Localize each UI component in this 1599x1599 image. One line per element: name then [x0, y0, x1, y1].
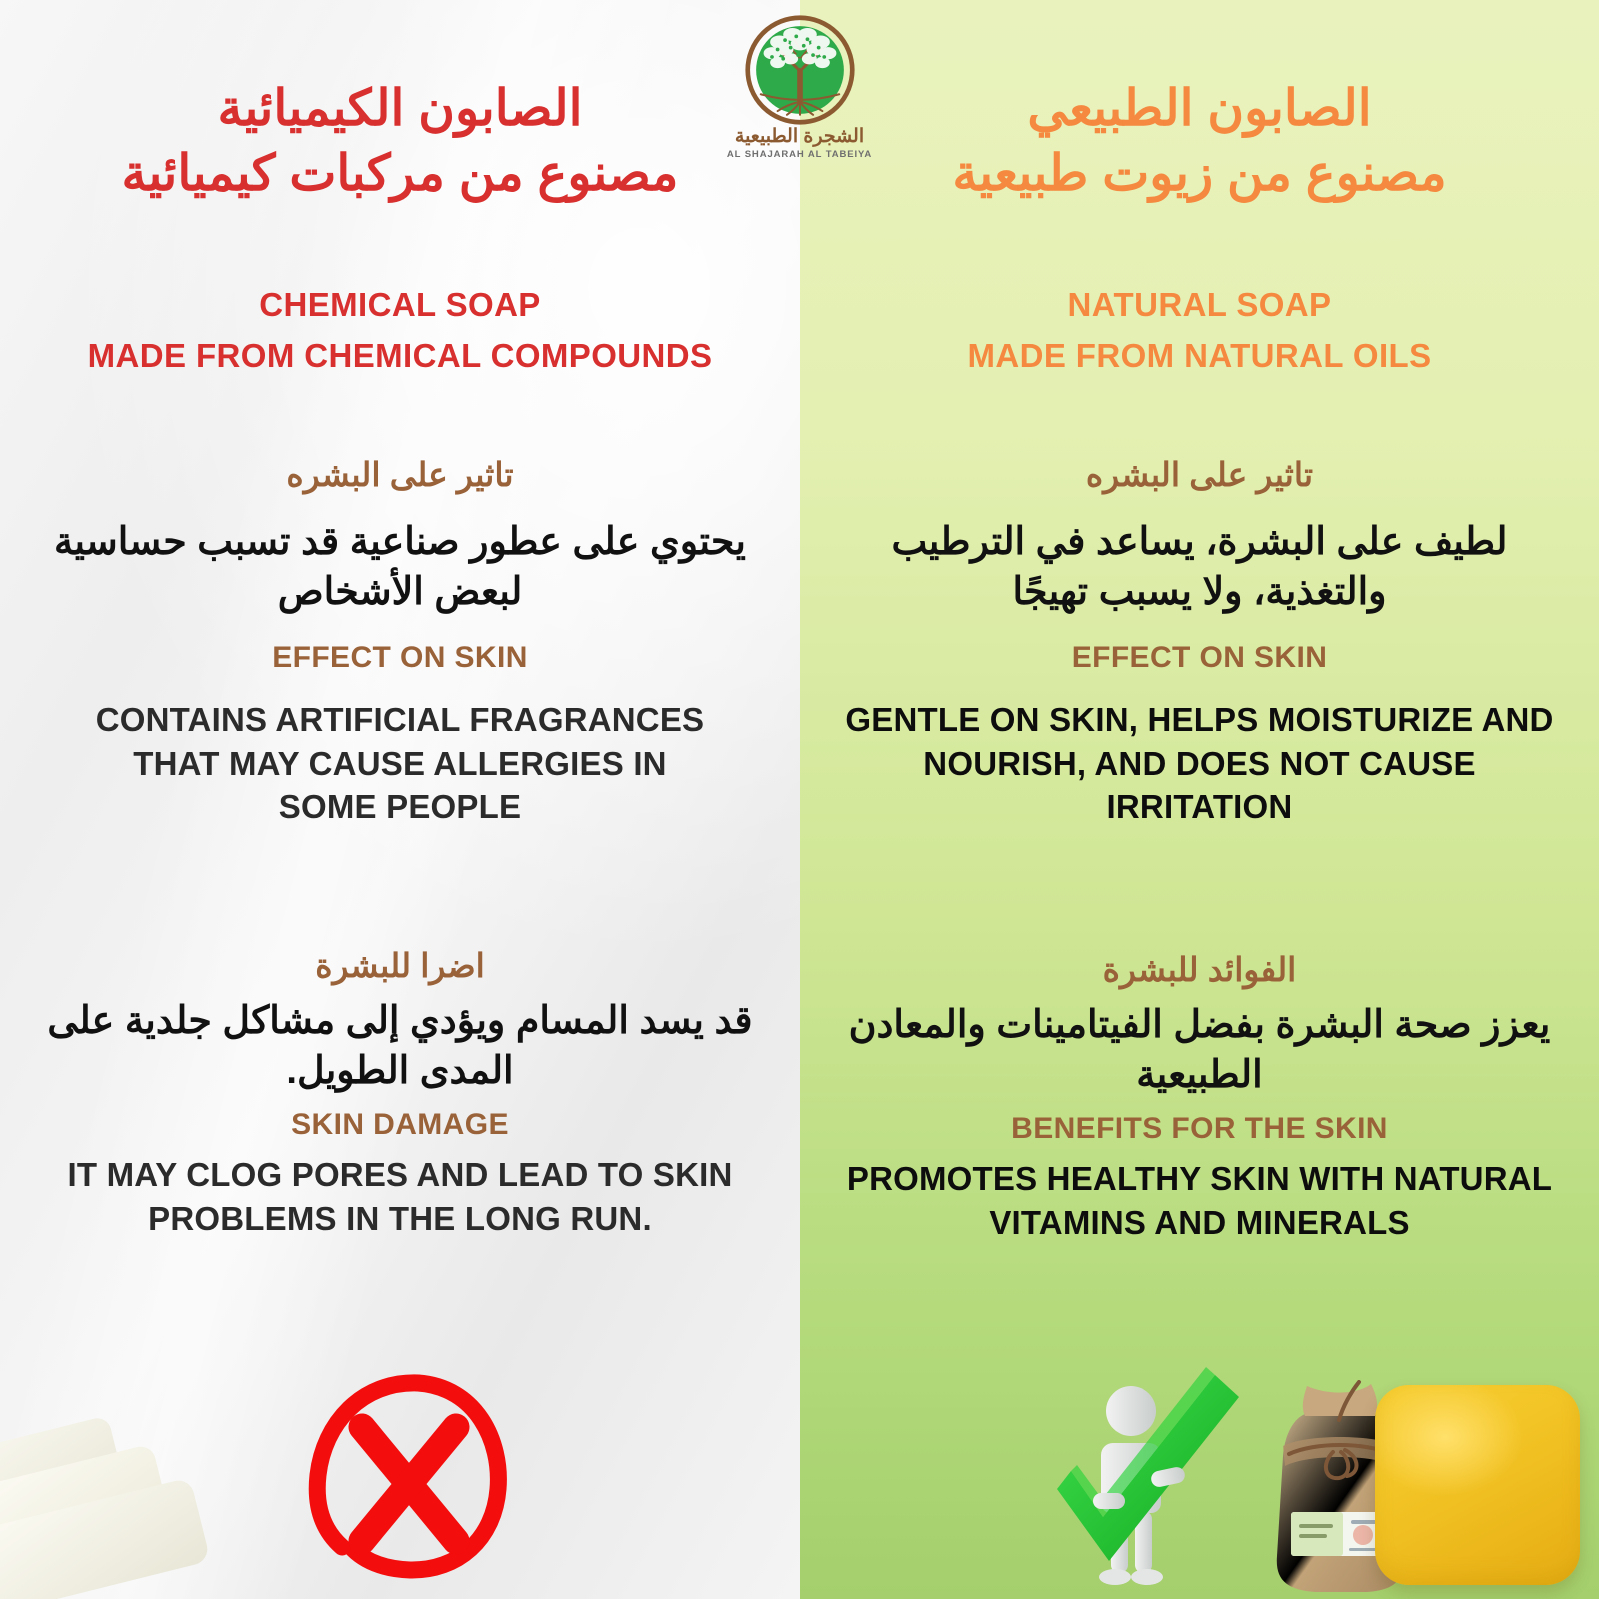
natural-section-effect: تاثير على البشره لطيف على البشرة، يساعد …	[800, 455, 1599, 829]
chemical-effect-heading-english: EFFECT ON SKIN	[26, 640, 774, 676]
natural-title-english-line1: NATURAL SOAP	[826, 285, 1573, 325]
person-holding-check-figure	[1055, 1365, 1255, 1595]
chemical-title-english-line1: CHEMICAL SOAP	[26, 285, 774, 325]
chemical-title-english-line2: MADE FROM CHEMICAL COMPOUNDS	[26, 336, 774, 376]
chemical-soap-panel: الصابون الكيميائية مصنوع من مركبات كيميا…	[0, 0, 800, 1599]
natural-title-block: الصابون الطبيعي مصنوع من زيوت طبيعية	[800, 78, 1599, 204]
natural-title-english-line2: MADE FROM NATURAL OILS	[826, 336, 1573, 376]
chemical-subtitle-block: CHEMICAL SOAP MADE FROM CHEMICAL COMPOUN…	[0, 285, 800, 377]
natural-benefits-heading-arabic: الفوائد للبشرة	[826, 950, 1573, 990]
natural-benefits-body-english: PROMOTES HEALTHY SKIN WITH NATURAL VITAM…	[826, 1157, 1573, 1245]
natural-effect-heading-arabic: تاثير على البشره	[826, 455, 1573, 495]
chemical-effect-body-english: CONTAINS ARTIFICIAL FRAGRANCES THAT MAY …	[26, 698, 774, 830]
comparison-infographic: الصابون الكيميائية مصنوع من مركبات كيميا…	[0, 0, 1599, 1599]
chemical-effect-heading-arabic: تاثير على البشره	[26, 455, 774, 495]
natural-effect-body-english: GENTLE ON SKIN, HELPS MOISTURIZE AND NOU…	[826, 698, 1573, 830]
natural-benefits-heading-english: BENEFITS FOR THE SKIN	[826, 1111, 1573, 1147]
natural-effect-body-arabic: لطيف على البشرة، يساعد في الترطيب والتغذ…	[826, 517, 1573, 618]
chemical-section-damage: اضرا للبشرة قد يسد المسام ويؤدي إلى مشاك…	[0, 946, 800, 1240]
natural-section-benefits: الفوائد للبشرة يعزز صحة البشرة بفضل الفي…	[800, 950, 1599, 1244]
white-soap-bars-image	[0, 1367, 270, 1599]
natural-title-arabic-line1: الصابون الطبيعي	[826, 78, 1573, 139]
natural-subtitle-block: NATURAL SOAP MADE FROM NATURAL OILS	[800, 285, 1599, 377]
yellow-soap-bar-image	[1375, 1385, 1580, 1585]
chemical-title-arabic-line2: مصنوع من مركبات كيميائية	[26, 143, 774, 204]
logo-arabic-name: الشجرة الطبيعية	[725, 127, 875, 148]
natural-title-arabic-line2: مصنوع من زيوت طبيعية	[826, 143, 1573, 204]
chemical-section-effect: تاثير على البشره يحتوي على عطور صناعية ق…	[0, 455, 800, 829]
natural-soap-panel: الصابون الطبيعي مصنوع من زيوت طبيعية NAT…	[800, 0, 1599, 1599]
tree-in-circle-logo-icon	[744, 14, 856, 126]
natural-effect-heading-english: EFFECT ON SKIN	[826, 640, 1573, 676]
red-x-mark-icon	[290, 1365, 520, 1585]
chemical-damage-body-arabic: قد يسد المسام ويؤدي إلى مشاكل جلدية على …	[26, 996, 774, 1097]
chemical-damage-heading-arabic: اضرا للبشرة	[26, 946, 774, 986]
chemical-title-arabic-line1: الصابون الكيميائية	[26, 78, 774, 139]
brand-logo: الشجرة الطبيعية AL SHAJARAH AL TABEIYA	[725, 14, 875, 160]
logo-english-name: AL SHAJARAH AL TABEIYA	[725, 149, 875, 160]
chemical-effect-body-arabic: يحتوي على عطور صناعية قد تسبب حساسية لبع…	[26, 517, 774, 618]
chemical-title-block: الصابون الكيميائية مصنوع من مركبات كيميا…	[0, 78, 800, 204]
natural-benefits-body-arabic: يعزز صحة البشرة بفضل الفيتامينات والمعاد…	[826, 1000, 1573, 1101]
chemical-damage-body-english: IT MAY CLOG PORES AND LEAD TO SKIN PROBL…	[26, 1153, 774, 1241]
chemical-damage-heading-english: SKIN DAMAGE	[26, 1107, 774, 1143]
